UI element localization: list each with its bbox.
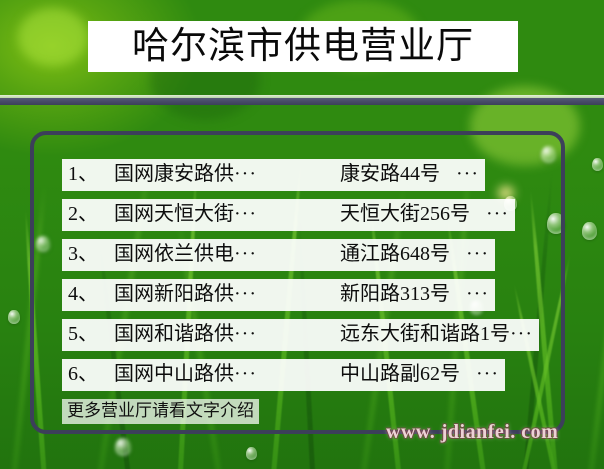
list-item-address: 新阳路313号: [340, 283, 450, 305]
dew-drop: [8, 310, 20, 324]
list-item-name: 国网中山路供: [114, 363, 234, 385]
list-item-name-cell: 国网康安路供···: [114, 162, 340, 187]
name-ellipsis: ···: [234, 323, 257, 345]
footer-note: 更多营业厅请看文字介绍: [62, 399, 259, 424]
list-item-index: 5、: [68, 322, 98, 347]
page-title-band: 哈尔滨市供电营业厅: [88, 21, 518, 72]
name-ellipsis: ···: [234, 363, 257, 385]
list-item-name-cell: 国网天恒大街···: [114, 202, 340, 227]
list-item-name: 国网依兰供电: [114, 243, 234, 265]
list-item-name-cell: 国网中山路供···: [114, 362, 340, 387]
list-item-address: 天恒大街256号: [340, 203, 470, 225]
list-item-name-cell: 国网新阳路供···: [114, 282, 340, 307]
list-item-address-cell: 新阳路313号···: [340, 282, 489, 307]
list-item-name: 国网康安路供: [114, 163, 234, 185]
list-item-address-cell: 康安路44号···: [340, 162, 479, 187]
list-item[interactable]: 3、 国网依兰供电··· 通江路648号···: [62, 235, 542, 275]
name-ellipsis: ···: [234, 243, 257, 265]
slide-canvas: 哈尔滨市供电营业厅 1、 国网康安路供··· 康安路44号··· 2、 国网天恒…: [0, 0, 604, 469]
divider-dark: [0, 98, 604, 105]
list-item[interactable]: 2、 国网天恒大街··· 天恒大街256号···: [62, 195, 542, 235]
list-item-index: 6、: [68, 362, 98, 387]
office-list: 1、 国网康安路供··· 康安路44号··· 2、 国网天恒大街··· 天恒大街…: [62, 155, 542, 395]
list-item-name: 国网新阳路供: [114, 283, 234, 305]
list-item-band: 2、 国网天恒大街··· 天恒大街256号···: [62, 199, 515, 231]
list-item[interactable]: 4、 国网新阳路供··· 新阳路313号···: [62, 275, 542, 315]
list-item-index: 4、: [68, 282, 98, 307]
address-ellipsis: ···: [466, 283, 489, 305]
list-item-address-cell: 远东大街和谐路1号···: [340, 322, 533, 347]
list-item-band: 4、 国网新阳路供··· 新阳路313号···: [62, 279, 495, 311]
list-item-name: 国网天恒大街: [114, 203, 234, 225]
list-item-address-cell: 中山路副62号···: [340, 362, 499, 387]
list-item[interactable]: 6、 国网中山路供··· 中山路副62号···: [62, 355, 542, 395]
dew-drop: [246, 447, 257, 460]
list-item-index: 1、: [68, 162, 98, 187]
list-item-address-cell: 通江路648号···: [340, 242, 489, 267]
address-ellipsis: ···: [476, 363, 499, 385]
list-item-name-cell: 国网和谐路供···: [114, 322, 340, 347]
list-item-index: 3、: [68, 242, 98, 267]
site-watermark: www. jdianfei. com: [386, 421, 558, 444]
list-item-address-cell: 天恒大街256号···: [340, 202, 509, 227]
dew-drop: [592, 158, 603, 171]
list-item[interactable]: 5、 国网和谐路供··· 远东大街和谐路1号···: [62, 315, 542, 355]
dew-drop: [582, 222, 597, 240]
list-item[interactable]: 1、 国网康安路供··· 康安路44号···: [62, 155, 542, 195]
dew-drop: [547, 213, 565, 234]
list-item-band: 6、 国网中山路供··· 中山路副62号···: [62, 359, 505, 391]
dew-drop: [36, 236, 50, 252]
list-item-address: 中山路副62号: [340, 363, 460, 385]
dew-drop: [115, 438, 131, 456]
list-item-address: 通江路648号: [340, 243, 450, 265]
list-item-address: 远东大街和谐路1号: [340, 323, 510, 345]
list-item-band: 5、 国网和谐路供··· 远东大街和谐路1号···: [62, 319, 539, 351]
list-item-address: 康安路44号: [340, 163, 440, 185]
address-ellipsis: ···: [510, 323, 533, 345]
address-ellipsis: ···: [486, 203, 509, 225]
list-item-name-cell: 国网依兰供电···: [114, 242, 340, 267]
list-item-index: 2、: [68, 202, 98, 227]
name-ellipsis: ···: [234, 203, 257, 225]
name-ellipsis: ···: [234, 283, 257, 305]
list-item-band: 3、 国网依兰供电··· 通江路648号···: [62, 239, 495, 271]
list-item-band: 1、 国网康安路供··· 康安路44号···: [62, 159, 485, 191]
address-ellipsis: ···: [466, 243, 489, 265]
list-item-name: 国网和谐路供: [114, 323, 234, 345]
address-ellipsis: ···: [456, 163, 479, 185]
name-ellipsis: ···: [234, 163, 257, 185]
dew-drop: [541, 146, 556, 163]
page-title: 哈尔滨市供电营业厅: [132, 28, 474, 65]
